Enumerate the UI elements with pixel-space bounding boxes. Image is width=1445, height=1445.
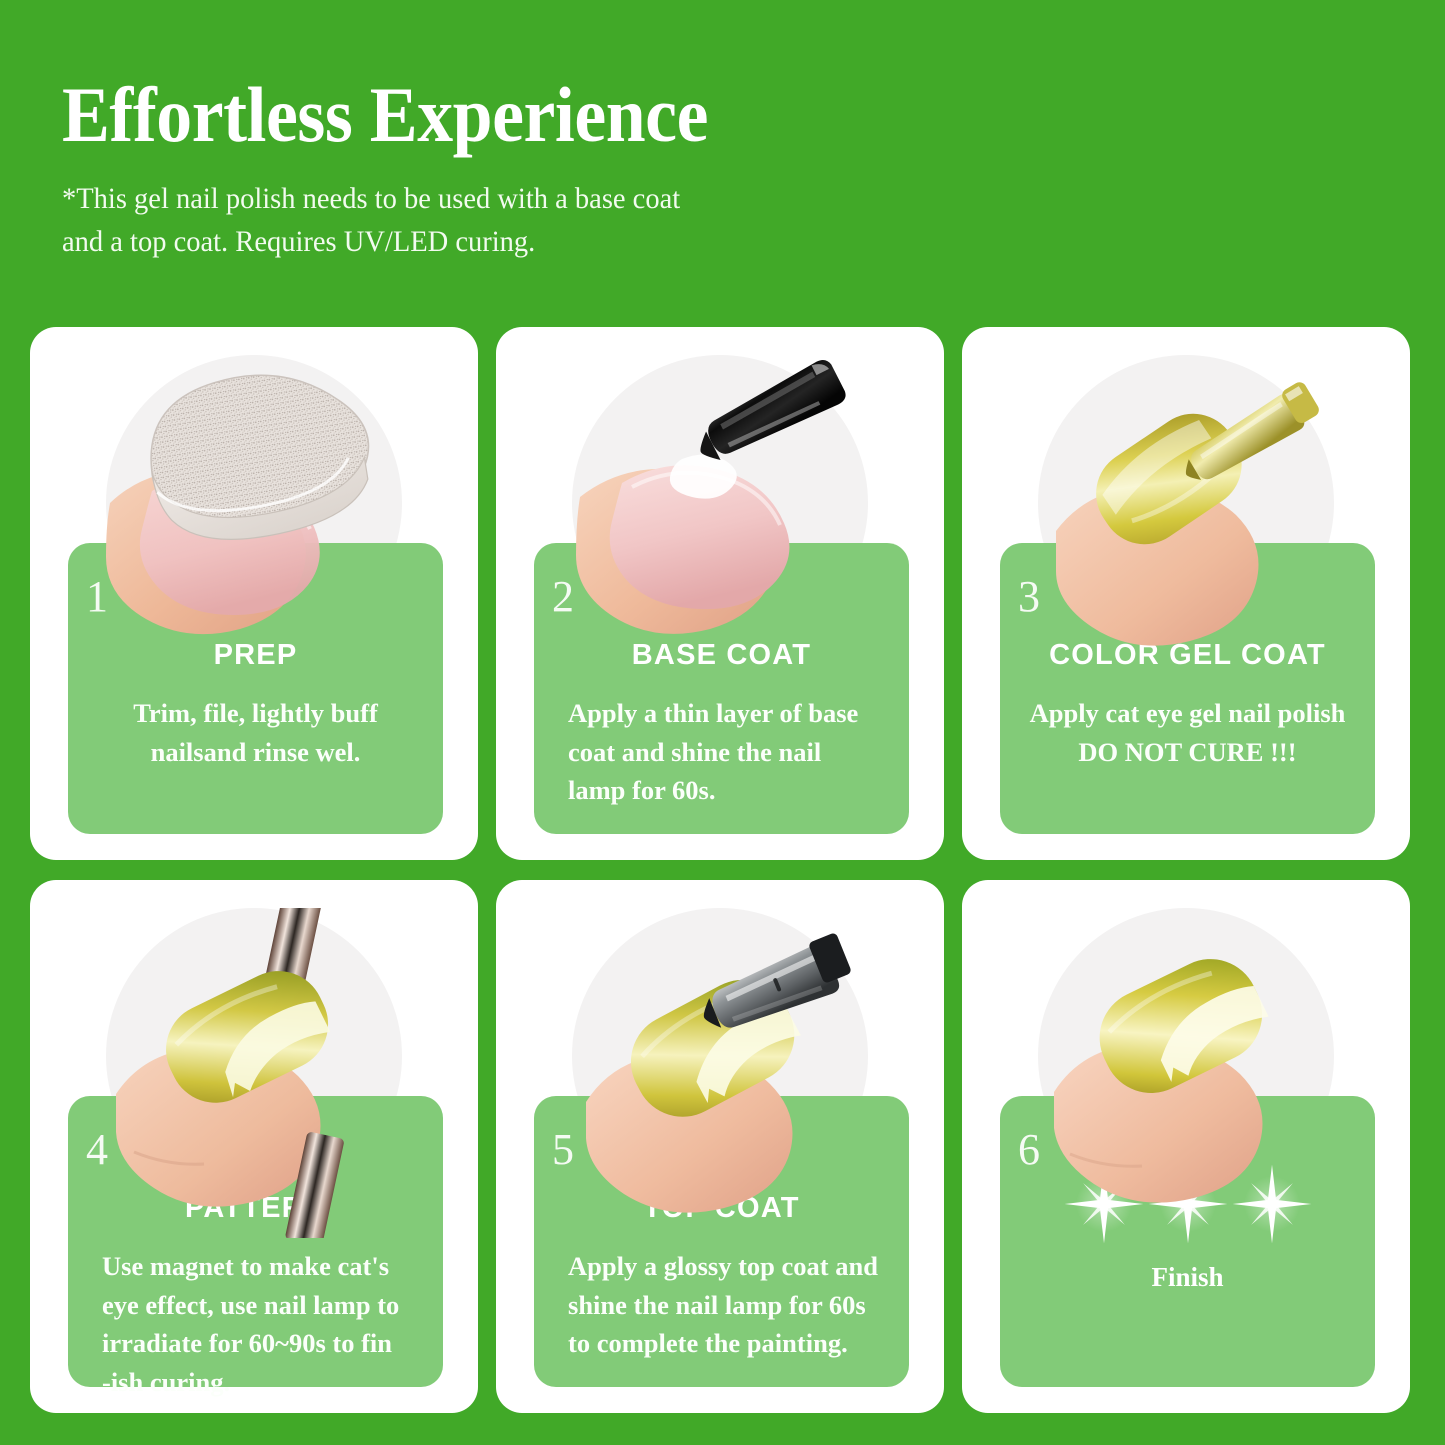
- step-body-5: Apply a glossy top coat and shine the na…: [554, 1247, 889, 1363]
- step-card-5[interactable]: 5 TOP COAT Apply a glossy top coat and s…: [496, 880, 944, 1413]
- step-title-2: BASE COAT: [554, 639, 889, 672]
- page-subtitle: *This gel nail polish needs to be used w…: [62, 178, 1376, 263]
- step-title-4: PATTERN: [88, 1192, 423, 1225]
- step-panel-4: 4 PATTERN Use magnet to make cat's eye e…: [68, 1096, 443, 1387]
- step-panel-1: 1 PREP Trim, file, lightly buff nailsand…: [68, 543, 443, 834]
- page-title: Effortless Experience: [62, 78, 1334, 152]
- steps-grid: 1 PREP Trim, file, lightly buff nailsand…: [30, 327, 1417, 1413]
- step-card-6[interactable]: 6: [962, 880, 1410, 1413]
- step-panel-3: 3 COLOR GEL COAT Apply cat eye gel nail …: [1000, 543, 1375, 834]
- step-panel-2: 2 BASE COAT Apply a thin layer of base c…: [534, 543, 909, 834]
- step-body-1: Trim, file, lightly buff nailsand rinse …: [88, 694, 423, 771]
- step-body-4: Use magnet to make cat's eye effect, use…: [88, 1247, 423, 1402]
- step-body-2: Apply a thin layer of base coat and shin…: [554, 694, 889, 810]
- page-header: Effortless Experience *This gel nail pol…: [0, 0, 1445, 263]
- step-number-1: 1: [86, 575, 108, 619]
- step-body-3: Apply cat eye gel nail polish DO NOT CUR…: [1020, 694, 1355, 771]
- step-card-4[interactable]: 4 PATTERN Use magnet to make cat's eye e…: [30, 880, 478, 1413]
- step-number-3: 3: [1018, 575, 1040, 619]
- step-title-3: COLOR GEL COAT: [1020, 639, 1355, 672]
- step-title-5: TOP COAT: [554, 1192, 889, 1225]
- step-title-1: PREP: [88, 639, 423, 672]
- step-card-1[interactable]: 1 PREP Trim, file, lightly buff nailsand…: [30, 327, 478, 860]
- step-number-2: 2: [552, 575, 574, 619]
- step-card-3[interactable]: 3 COLOR GEL COAT Apply cat eye gel nail …: [962, 327, 1410, 860]
- step-number-4: 4: [86, 1128, 108, 1172]
- sparkle-icon: [1063, 1163, 1145, 1245]
- sparkle-icon: [1231, 1163, 1313, 1245]
- sparkle-group: [1020, 1156, 1355, 1252]
- step-number-5: 5: [552, 1128, 574, 1172]
- step-panel-6: 6: [1000, 1096, 1375, 1387]
- step-card-2[interactable]: 2 BASE COAT Apply a thin layer of base c…: [496, 327, 944, 860]
- finish-label: Finish: [1020, 1262, 1355, 1293]
- sparkle-icon: [1147, 1163, 1229, 1245]
- step-panel-5: 5 TOP COAT Apply a glossy top coat and s…: [534, 1096, 909, 1387]
